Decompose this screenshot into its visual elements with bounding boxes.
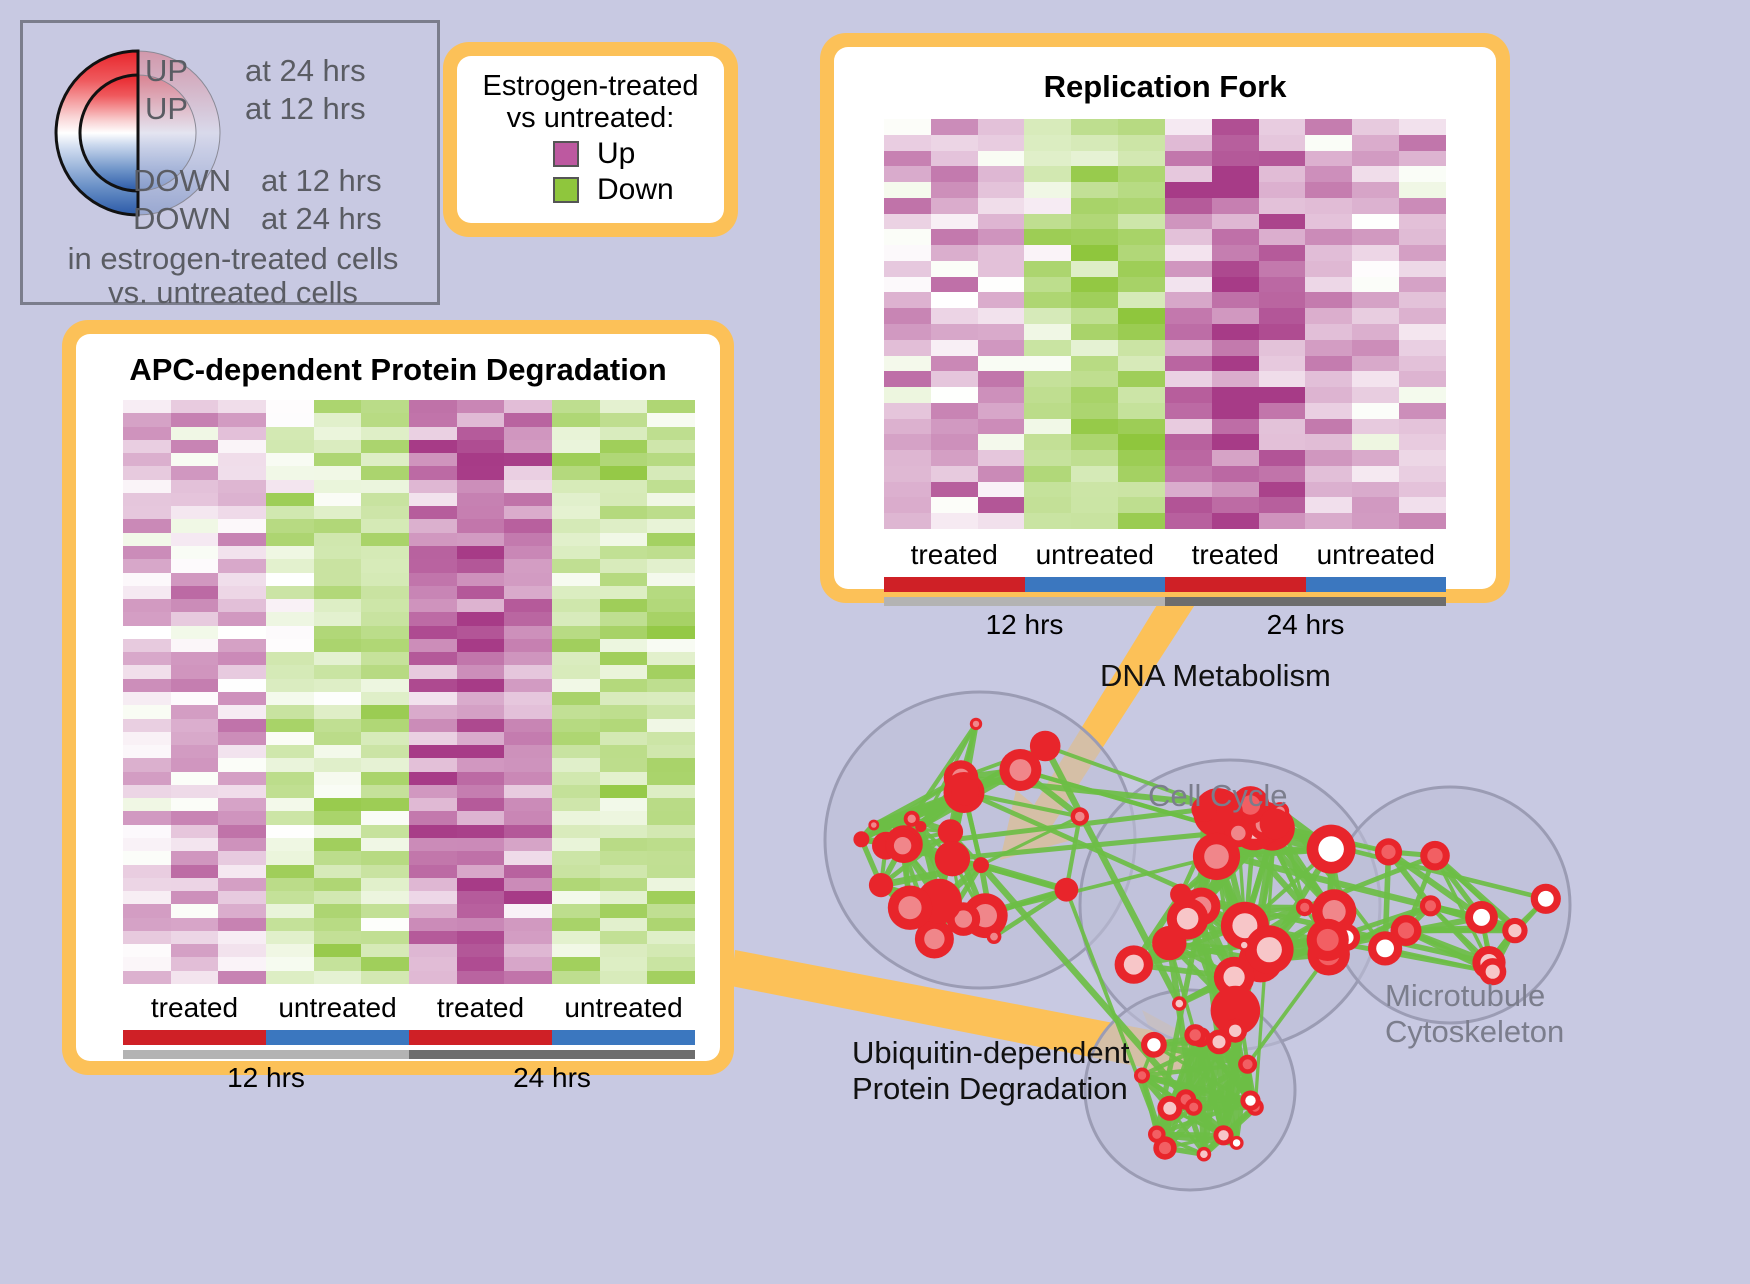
time-label: 24 hrs <box>409 1062 695 1094</box>
group-label: treated <box>409 992 552 1024</box>
replication-fork-time-labels: 12 hrs24 hrs <box>884 609 1446 641</box>
apc-degradation-annotation-strip: treateduntreatedtreateduntreated 12 hrs2… <box>123 992 695 1087</box>
group-bar <box>1165 577 1306 592</box>
apc-degradation-heatmap <box>123 400 695 984</box>
apc-degradation-panel: APC-dependent Protein Degradation treate… <box>62 320 734 1075</box>
apc-degradation-time-bars <box>123 1050 695 1059</box>
group-bar <box>1306 577 1447 592</box>
replication-fork-group-bars <box>884 577 1446 592</box>
group-bar <box>266 1030 409 1045</box>
replication-fork-panel: Replication Fork treateduntreatedtreated… <box>820 33 1510 603</box>
replication-fork-heatmap <box>884 119 1446 529</box>
apc-degradation-group-bars <box>123 1030 695 1045</box>
time-label: 12 hrs <box>884 609 1165 641</box>
group-label: untreated <box>1306 539 1447 571</box>
cluster-label-dna-metabolism: DNA Metabolism <box>1100 658 1331 694</box>
pathway-network-diagram: DNA Metabolism Cell Cycle Microtubule Cy… <box>790 610 1750 1279</box>
group-label: untreated <box>266 992 409 1024</box>
time-label: 12 hrs <box>123 1062 409 1094</box>
replication-fork-group-labels: treateduntreatedtreateduntreated <box>884 539 1446 571</box>
group-bar <box>1025 577 1166 592</box>
apc-degradation-group-labels: treateduntreatedtreateduntreated <box>123 992 695 1024</box>
group-bar <box>552 1030 695 1045</box>
replication-fork-time-bars <box>884 597 1446 606</box>
group-bar <box>409 1030 552 1045</box>
cluster-label-microtubule-cytoskeleton: Microtubule Cytoskeleton <box>1385 978 1564 1049</box>
apc-degradation-time-labels: 12 hrs24 hrs <box>123 1062 695 1094</box>
cluster-label-cell-cycle: Cell Cycle <box>1148 778 1288 814</box>
cluster-label-ubiquitin-degradation: Ubiquitin-dependent Protein Degradation <box>852 1035 1130 1106</box>
time-bar <box>1165 597 1446 606</box>
time-bar <box>123 1050 409 1059</box>
time-label: 24 hrs <box>1165 609 1446 641</box>
network-graph <box>790 610 1750 1279</box>
replication-fork-title: Replication Fork <box>834 69 1496 105</box>
time-bar <box>884 597 1165 606</box>
group-label: untreated <box>552 992 695 1024</box>
group-label: untreated <box>1025 539 1166 571</box>
group-label: treated <box>884 539 1025 571</box>
time-bar <box>409 1050 695 1059</box>
group-label: treated <box>123 992 266 1024</box>
group-bar <box>884 577 1025 592</box>
group-bar <box>123 1030 266 1045</box>
apc-degradation-title: APC-dependent Protein Degradation <box>76 352 720 388</box>
group-label: treated <box>1165 539 1306 571</box>
replication-fork-annotation-strip: treateduntreatedtreateduntreated 12 hrs2… <box>884 539 1446 631</box>
